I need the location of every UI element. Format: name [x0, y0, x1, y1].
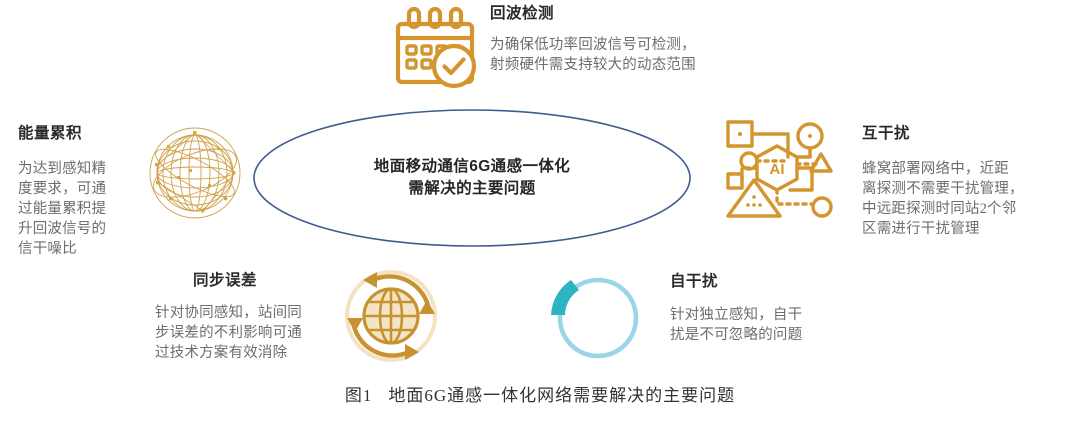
- node-echo-detection-body: 为确保低功率回波信号可检测， 射频硬件需支持较大的动态范围: [490, 35, 696, 75]
- node-sync-error: 同步误差 针对协同感知，站间同 步误差的不利影响可通 过技术方案有效消除: [155, 271, 302, 363]
- ai-network-icon: AI: [718, 112, 836, 224]
- node-sync-error-title: 同步误差: [193, 271, 302, 290]
- node-energy-accumulation: 能量累积 为达到感知精 度要求，可通 过能量累积提 升回波信号的 信干噪比: [18, 124, 106, 259]
- node-self-interference: 自干扰 针对独立感知，自干 扰是不可忽略的问题: [670, 272, 802, 345]
- node-energy-accumulation-body: 为达到感知精 度要求，可通 过能量累积提 升回波信号的 信干噪比: [18, 159, 106, 259]
- center-label-line2: 需解决的主要问题: [252, 178, 692, 200]
- node-self-interference-body: 针对独立感知，自干 扰是不可忽略的问题: [670, 305, 802, 345]
- node-energy-accumulation-title: 能量累积: [18, 124, 106, 143]
- globe-cycle-icon: [341, 266, 441, 366]
- center-ellipse: 地面移动通信6G通感一体化 需解决的主要问题: [252, 108, 692, 248]
- svg-text:AI: AI: [770, 161, 785, 178]
- ring-arc-icon: [541, 268, 645, 366]
- figure-caption-text: 地面6G通感一体化网络需要解决的主要问题: [388, 386, 735, 405]
- figure-caption-number: 图1: [345, 386, 373, 405]
- node-echo-detection: 回波检测 为确保低功率回波信号可检测， 射频硬件需支持较大的动态范围: [490, 4, 696, 75]
- wireframe-globe-icon: [143, 121, 247, 225]
- node-mutual-interference-body: 蜂窝部署网络中，近距 离探测不需要干扰管理， 中远距探测时同站2个邻 区需进行干…: [862, 159, 1024, 239]
- figure-diagram: 回波检测 为确保低功率回波信号可检测， 射频硬件需支持较大的动态范围 能量累积 …: [0, 0, 1080, 425]
- center-label-line1: 地面移动通信6G通感一体化: [252, 156, 692, 178]
- figure-caption: 图1地面6G通感一体化网络需要解决的主要问题: [0, 381, 1080, 406]
- center-label: 地面移动通信6G通感一体化 需解决的主要问题: [252, 156, 692, 201]
- node-echo-detection-title: 回波检测: [490, 4, 696, 23]
- node-mutual-interference-title: 互干扰: [862, 124, 1024, 143]
- calendar-check-icon: [396, 6, 484, 92]
- node-mutual-interference: 互干扰 蜂窝部署网络中，近距 离探测不需要干扰管理， 中远距探测时同站2个邻 区…: [862, 124, 1024, 239]
- node-self-interference-title: 自干扰: [670, 272, 802, 291]
- node-sync-error-body: 针对协同感知，站间同 步误差的不利影响可通 过技术方案有效消除: [155, 303, 302, 363]
